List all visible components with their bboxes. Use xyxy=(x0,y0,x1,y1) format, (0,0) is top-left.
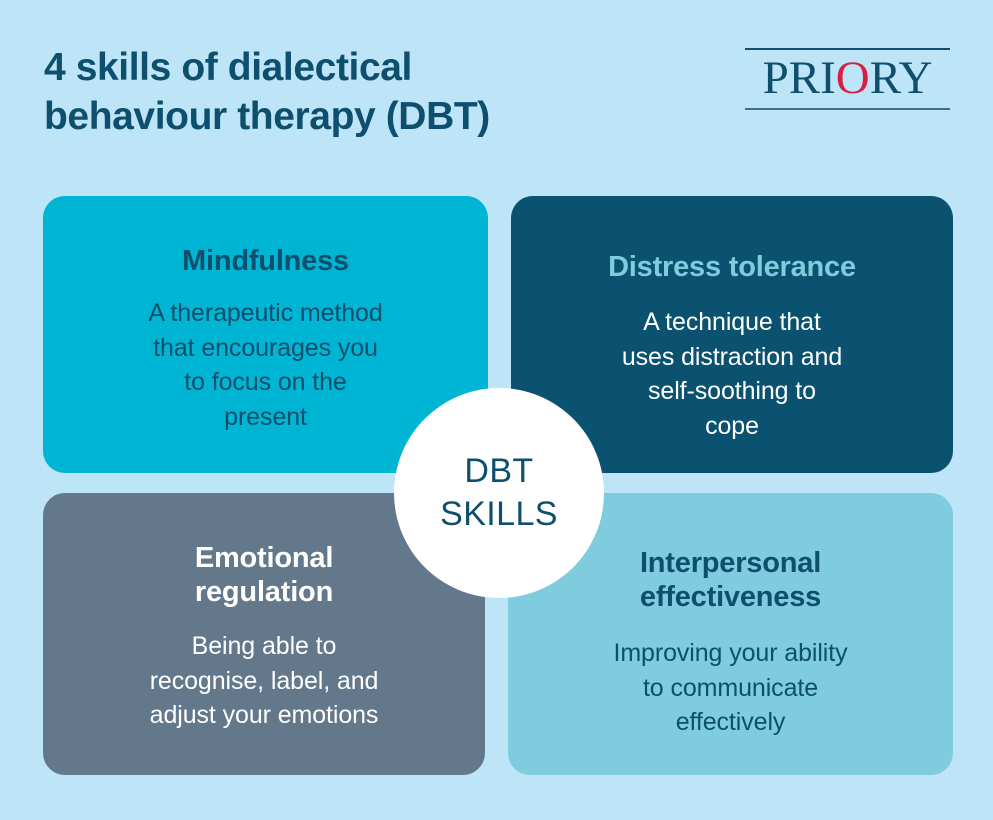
logo-rule-bottom xyxy=(745,108,950,110)
card-body-distress-tolerance: A technique that uses distraction and se… xyxy=(622,290,842,443)
logo-text-after: RY xyxy=(870,52,933,104)
card-body-interpersonal-effectiveness: Improving your ability to communicate ef… xyxy=(613,620,847,740)
card-heading-interpersonal-effectiveness: Interpersonal effectiveness xyxy=(581,519,881,614)
logo-rule-top xyxy=(745,48,950,50)
center-badge-dbt-skills: DBT SKILLS xyxy=(394,388,604,598)
logo-wordmark: PRIORY xyxy=(745,54,950,102)
page-title: 4 skills of dialectical behaviour therap… xyxy=(44,44,684,142)
logo-text-before: PRI xyxy=(763,52,836,104)
card-heading-distress-tolerance: Distress tolerance xyxy=(608,222,856,284)
card-body-emotional-regulation: Being able to recognise, label, and adju… xyxy=(150,615,379,733)
card-body-mindfulness: A therapeutic method that encourages you… xyxy=(148,284,382,434)
infographic-header: 4 skills of dialectical behaviour therap… xyxy=(0,0,993,180)
priory-logo: PRIORY xyxy=(745,48,950,110)
card-heading-emotional-regulation: Emotional regulation xyxy=(134,519,394,609)
logo-text-accent-o: O xyxy=(836,52,870,104)
card-heading-mindfulness: Mindfulness xyxy=(182,222,349,278)
center-badge-label: DBT SKILLS xyxy=(440,450,558,536)
dbt-skills-infographic: 4 skills of dialectical behaviour therap… xyxy=(0,0,993,820)
